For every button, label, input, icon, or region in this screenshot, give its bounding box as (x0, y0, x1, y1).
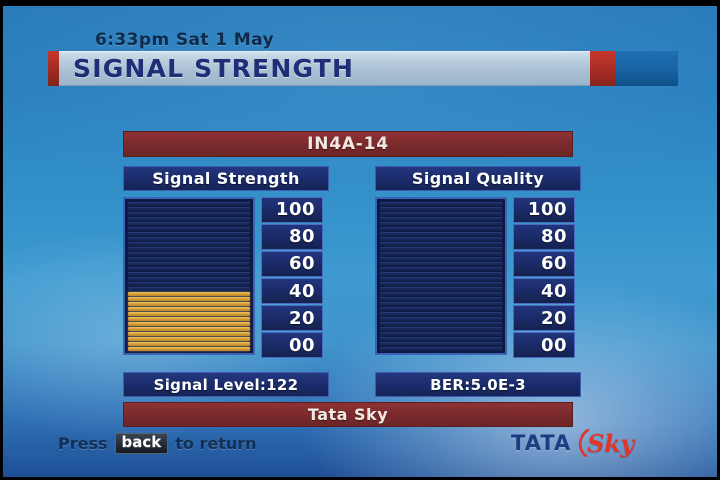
ber-value: BER:5.0E-3 (430, 376, 526, 394)
signal-quality-heading-bar: Signal Quality (375, 166, 581, 191)
signal-quality-scale-label: 100 (528, 199, 567, 220)
signal-quality-scale: 1008060402000 (513, 197, 575, 360)
signal-quality-segment (380, 302, 502, 306)
signal-strength-segment (128, 297, 250, 301)
signal-strength-scale-item: 40 (261, 278, 323, 304)
signal-quality-segment (380, 227, 502, 231)
signal-quality-segment (380, 312, 502, 316)
signal-quality-segment (380, 287, 502, 291)
page-title: SIGNAL STRENGTH (73, 54, 354, 83)
signal-strength-segment (128, 347, 250, 351)
signal-quality-heading: Signal Quality (412, 169, 544, 188)
signal-strength-scale-item: 20 (261, 305, 323, 331)
signal-strength-segment (128, 272, 250, 276)
signal-strength-segment (128, 257, 250, 261)
signal-strength-segment (128, 337, 250, 341)
signal-quality-scale-label: 20 (541, 308, 567, 329)
signal-quality-segment (380, 202, 502, 206)
signal-strength-scale-item: 00 (261, 332, 323, 358)
clock-datetime: 6:33pm Sat 1 May (95, 30, 274, 50)
signal-strength-scale: 1008060402000 (261, 197, 323, 360)
signal-strength-segment (128, 342, 250, 346)
signal-strength-segment (128, 282, 250, 286)
logo-tata-text: TATA (511, 431, 571, 455)
signal-strength-segment (128, 322, 250, 326)
signal-strength-segment (128, 222, 250, 226)
signal-quality-segment (380, 262, 502, 266)
signal-quality-segment (380, 257, 502, 261)
signal-quality-scale-label: 80 (541, 226, 567, 247)
signal-quality-segment (380, 347, 502, 351)
signal-strength-segment (128, 207, 250, 211)
signal-quality-scale-item: 80 (513, 224, 575, 250)
signal-strength-meter (123, 197, 255, 355)
back-key-badge[interactable]: back (115, 433, 169, 454)
signal-strength-segment (128, 312, 250, 316)
signal-quality-segment (380, 317, 502, 321)
signal-strength-scale-label: 60 (289, 253, 315, 274)
signal-strength-panel: Signal Strength 1008060402000 (123, 166, 329, 360)
signal-quality-segment (380, 252, 502, 256)
footer-hint-suffix: to return (175, 434, 256, 453)
title-bar-right-block (616, 51, 678, 86)
signal-strength-scale-label: 80 (289, 226, 315, 247)
satellite-name-bar: IN4A-14 (123, 131, 573, 157)
title-bar-right-accent (590, 51, 616, 86)
signal-quality-segment (380, 232, 502, 236)
signal-quality-segment (380, 222, 502, 226)
signal-quality-scale-item: 40 (513, 278, 575, 304)
signal-strength-segment (128, 292, 250, 296)
signal-strength-scale-item: 80 (261, 224, 323, 250)
signal-quality-segment (380, 327, 502, 331)
signal-strength-segment (128, 327, 250, 331)
signal-quality-panel: Signal Quality 1008060402000 (375, 166, 581, 360)
signal-strength-scale-label: 40 (289, 281, 315, 302)
footer-hint: Press back to return (58, 433, 257, 454)
signal-quality-scale-label: 00 (541, 335, 567, 356)
signal-quality-segment (380, 207, 502, 211)
signal-strength-scale-label: 20 (289, 308, 315, 329)
signal-quality-segment (380, 212, 502, 216)
signal-quality-meter (375, 197, 507, 355)
signal-level-readout: Signal Level:122 (123, 372, 329, 397)
signal-quality-segment (380, 342, 502, 346)
signal-strength-segments (125, 199, 253, 353)
signal-strength-scale-item: 100 (261, 197, 323, 223)
satellite-name: IN4A-14 (307, 134, 389, 154)
signal-quality-segment (380, 322, 502, 326)
signal-strength-scale-label: 100 (276, 199, 315, 220)
footer-hint-prefix: Press (58, 434, 108, 453)
tv-signal-strength-screen: 6:33pm Sat 1 May SIGNAL STRENGTH IN4A-14… (0, 0, 720, 480)
signal-quality-segment (380, 307, 502, 311)
signal-quality-meter-wrap: 1008060402000 (375, 197, 581, 360)
signal-strength-meter-wrap: 1008060402000 (123, 197, 329, 360)
signal-quality-scale-item: 100 (513, 197, 575, 223)
signal-quality-segment (380, 277, 502, 281)
signal-strength-segment (128, 317, 250, 321)
signal-quality-segment (380, 237, 502, 241)
signal-strength-segment (128, 302, 250, 306)
signal-quality-scale-label: 60 (541, 253, 567, 274)
signal-quality-segments (377, 199, 505, 353)
signal-quality-scale-item: 20 (513, 305, 575, 331)
signal-strength-segment (128, 332, 250, 336)
signal-strength-segment (128, 242, 250, 246)
signal-quality-segment (380, 267, 502, 271)
ber-readout: BER:5.0E-3 (375, 372, 581, 397)
signal-quality-segment (380, 272, 502, 276)
signal-strength-segment (128, 227, 250, 231)
signal-quality-segment (380, 332, 502, 336)
signal-strength-segment (128, 287, 250, 291)
signal-strength-segment (128, 252, 250, 256)
provider-name: Tata Sky (308, 405, 388, 424)
signal-strength-segment (128, 237, 250, 241)
signal-quality-segment (380, 297, 502, 301)
title-bar: SIGNAL STRENGTH (48, 51, 678, 86)
provider-bar: Tata Sky (123, 402, 573, 427)
logo-sky-text: Sky (587, 429, 633, 458)
signal-strength-segment (128, 262, 250, 266)
title-bar-left-accent (48, 51, 59, 86)
tata-sky-logo: TATA Sky (511, 430, 634, 456)
signal-quality-scale-label: 40 (541, 281, 567, 302)
signal-quality-scale-item: 00 (513, 332, 575, 358)
signal-strength-segment (128, 307, 250, 311)
signal-quality-segment (380, 337, 502, 341)
signal-strength-scale-item: 60 (261, 251, 323, 277)
signal-strength-segment (128, 277, 250, 281)
signal-strength-heading-bar: Signal Strength (123, 166, 329, 191)
signal-quality-scale-item: 60 (513, 251, 575, 277)
logo-swoosh-icon (574, 429, 590, 457)
title-bar-body: SIGNAL STRENGTH (59, 51, 590, 86)
signal-quality-segment (380, 247, 502, 251)
signal-strength-segment (128, 232, 250, 236)
signal-strength-segment (128, 217, 250, 221)
signal-strength-segment (128, 202, 250, 206)
signal-strength-scale-label: 00 (289, 335, 315, 356)
signal-quality-segment (380, 217, 502, 221)
signal-strength-segment (128, 267, 250, 271)
signal-quality-segment (380, 282, 502, 286)
signal-quality-segment (380, 292, 502, 296)
signal-level-value: Signal Level:122 (154, 376, 299, 394)
signal-quality-segment (380, 242, 502, 246)
signal-strength-segment (128, 212, 250, 216)
signal-strength-heading: Signal Strength (152, 169, 300, 188)
signal-strength-segment (128, 247, 250, 251)
